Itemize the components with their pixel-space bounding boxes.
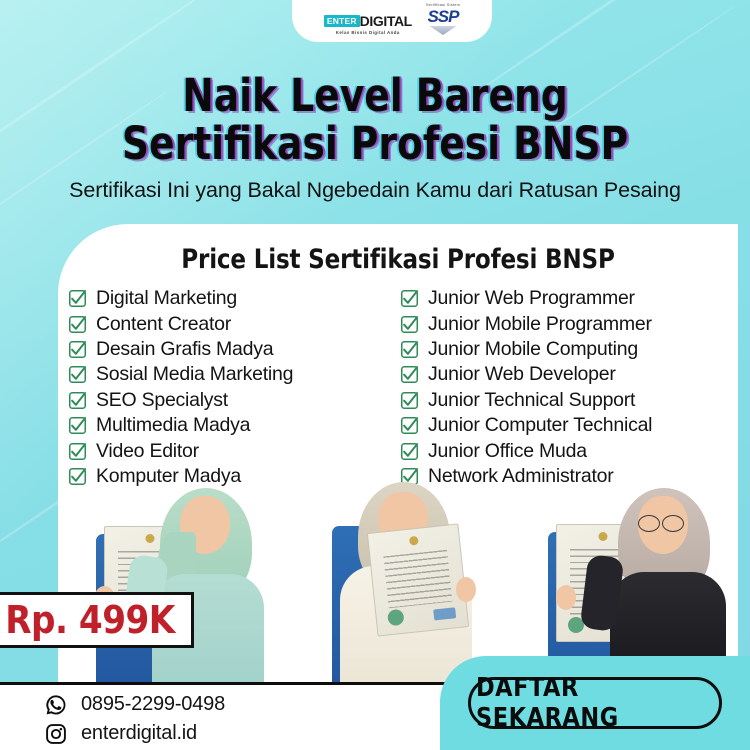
- list-item: Sosial Media Marketing: [68, 362, 398, 387]
- instagram-icon: [44, 722, 68, 746]
- certificate-text-lines: [383, 550, 453, 608]
- checkbox-checked-icon: [400, 365, 419, 384]
- instagram-handle: enterdigital.id: [81, 722, 197, 745]
- whatsapp-number: 0895-2299-0498: [81, 693, 225, 716]
- checkbox-checked-icon: [400, 416, 419, 435]
- list-item-label: Sosial Media Marketing: [96, 363, 293, 386]
- checkbox-checked-icon: [68, 365, 87, 384]
- whatsapp-icon: [44, 693, 68, 717]
- list-item: Junior Computer Technical: [400, 413, 730, 438]
- ssp-wordmark: SSP: [427, 8, 458, 25]
- contact-list: 0895-2299-0498 enterdigital.id: [44, 691, 225, 747]
- price-badge: Rp. 499K: [0, 592, 194, 648]
- certificate-seal: [387, 609, 405, 627]
- chevron-down-icon: [429, 26, 456, 35]
- checkbox-checked-icon: [400, 391, 419, 410]
- glasses: [662, 515, 684, 532]
- price-label: Rp. 499K: [5, 598, 175, 642]
- list-item-label: SEO Specialyst: [96, 389, 228, 412]
- list-item: Junior Mobile Programmer: [400, 311, 730, 336]
- logo-tagline: Kelas Bisnis Digital Anda: [336, 31, 400, 35]
- graduate-photo-2: [306, 470, 506, 684]
- checkbox-checked-icon: [68, 416, 87, 435]
- hand: [556, 585, 576, 610]
- list-item: Digital Marketing: [68, 286, 398, 311]
- enterdigital-logo: ENTER DIGITAL Kelas Bisnis Digital Anda: [324, 14, 412, 35]
- card-title: Price List Sertifikasi Profesi BNSP: [75, 244, 721, 275]
- list-item: Junior Mobile Computing: [400, 337, 730, 362]
- instagram-contact[interactable]: enterdigital.id: [44, 720, 225, 747]
- list-item: Junior Web Programmer: [400, 286, 730, 311]
- enter-badge: ENTER: [324, 15, 360, 28]
- list-item: Junior Web Developer: [400, 362, 730, 387]
- list-column-right: Junior Web ProgrammerJunior Mobile Progr…: [400, 286, 730, 489]
- checkbox-checked-icon: [400, 289, 419, 308]
- list-item-label: Digital Marketing: [96, 287, 237, 310]
- list-item: Multimedia Madya: [68, 413, 398, 438]
- register-button-label: DAFTAR SEKARANG: [476, 673, 714, 733]
- headline-line-1: Naik Level Bareng: [26, 72, 724, 120]
- checkbox-checked-icon: [400, 442, 419, 461]
- list-item-label: Junior Computer Technical: [428, 414, 652, 437]
- list-item-label: Junior Office Muda: [428, 440, 587, 463]
- list-item-label: Multimedia Madya: [96, 414, 250, 437]
- register-button[interactable]: DAFTAR SEKARANG: [468, 677, 722, 729]
- digital-wordmark: DIGITAL: [360, 14, 412, 28]
- checkbox-checked-icon: [68, 315, 87, 334]
- headline-line-2: Sertifikasi Profesi BNSP: [26, 120, 724, 168]
- list-item: Junior Office Muda: [400, 438, 730, 463]
- cta-block[interactable]: DAFTAR SEKARANG: [440, 656, 750, 750]
- list-item: Junior Technical Support: [400, 388, 730, 413]
- glasses: [638, 515, 660, 532]
- checkbox-checked-icon: [400, 315, 419, 334]
- list-item-label: Junior Web Developer: [428, 363, 616, 386]
- list-item-label: Content Creator: [96, 313, 231, 336]
- whatsapp-contact[interactable]: 0895-2299-0498: [44, 691, 225, 718]
- hero-subtitle: Sertifikasi Ini yang Bakal Ngebedain Kam…: [0, 178, 750, 203]
- checkbox-checked-icon: [68, 391, 87, 410]
- graduate-photo-1: [68, 470, 278, 684]
- logo-bar: ENTER DIGITAL Kelas Bisnis Digital Anda …: [292, 0, 492, 42]
- list-column-left: Digital MarketingContent CreatorDesain G…: [68, 286, 398, 489]
- list-item: SEO Specialyst: [68, 388, 398, 413]
- list-item: Video Editor: [68, 438, 398, 463]
- list-item: Content Creator: [68, 311, 398, 336]
- hand: [456, 577, 476, 602]
- ssp-logo: Sertifikasi Sistem SSP: [426, 3, 460, 35]
- list-item-label: Desain Grafis Madya: [96, 338, 273, 361]
- certification-lists: Digital MarketingContent CreatorDesain G…: [58, 286, 738, 489]
- list-item-label: Junior Technical Support: [428, 389, 635, 412]
- checkbox-checked-icon: [68, 289, 87, 308]
- graduate-photo-3: [526, 470, 736, 684]
- list-item-label: Video Editor: [96, 440, 199, 463]
- list-item-label: Junior Mobile Computing: [428, 338, 638, 361]
- certificate-document: [367, 523, 469, 636]
- graduates-photo-strip: [58, 470, 738, 684]
- certificate-stamp: [433, 607, 456, 620]
- list-item: Desain Grafis Madya: [68, 337, 398, 362]
- list-item-label: Junior Mobile Programmer: [428, 313, 652, 336]
- hero-headline: Naik Level Bareng Sertifikasi Profesi BN…: [0, 72, 750, 168]
- checkbox-checked-icon: [400, 340, 419, 359]
- checkbox-checked-icon: [68, 340, 87, 359]
- list-item-label: Junior Web Programmer: [428, 287, 635, 310]
- checkbox-checked-icon: [68, 442, 87, 461]
